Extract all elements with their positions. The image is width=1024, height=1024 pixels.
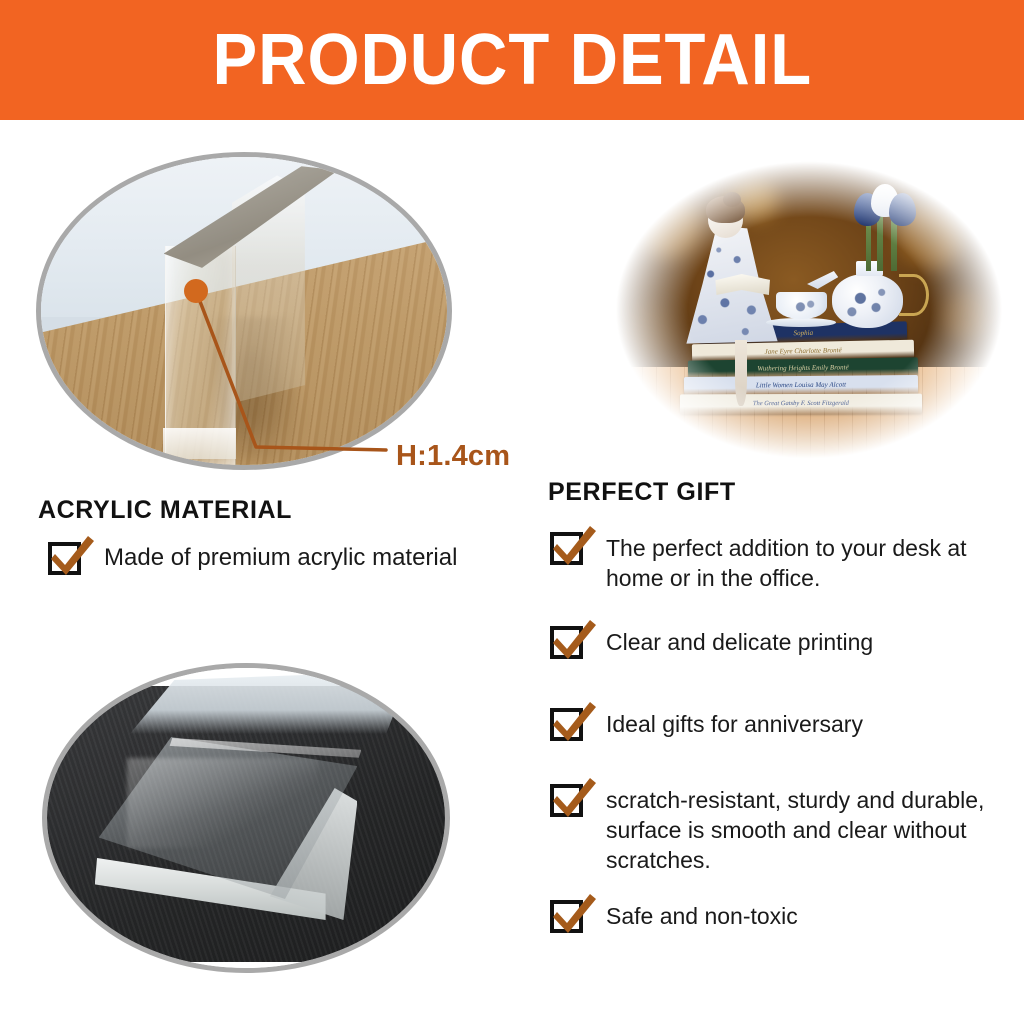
header-band: PRODUCT DETAIL [0, 0, 1024, 120]
slate-scene [47, 668, 445, 968]
checkmark-icon [550, 704, 590, 744]
slab-sheen [127, 758, 318, 848]
edge-slab-base-highlight [163, 428, 236, 459]
feature-label: The perfect addition to your desk at hom… [606, 528, 988, 593]
feature-item: Clear and delicate printing [550, 622, 988, 662]
checkmark-icon [550, 780, 590, 820]
slate-top-highlight [119, 674, 398, 734]
page-title: PRODUCT DETAIL [212, 24, 812, 96]
check-glyph [552, 698, 596, 744]
figurine-hair-bun [723, 192, 741, 207]
book-spine-label: Little Women Louisa May Alcott [684, 375, 918, 396]
teapot-handle [899, 274, 929, 316]
teapot-spout [807, 271, 838, 289]
check-glyph [552, 616, 596, 662]
check-glyph [552, 522, 596, 568]
tulip-stem [891, 217, 897, 271]
feature-item: Ideal gifts for anniversary [550, 704, 988, 744]
product-detail-page: PRODUCT DETAIL SophiaJane Eyre Charlotte… [0, 0, 1024, 1024]
feature-label: Clear and delicate printing [606, 622, 873, 657]
check-glyph [50, 532, 94, 578]
book-spine: The Great Gatsby F. Scott Fitzgerald [680, 394, 922, 415]
callout-label-height: H:1.4cm [396, 440, 510, 473]
checkmark-icon [48, 538, 88, 578]
checkmark-icon [550, 896, 590, 936]
teapot-vase [832, 274, 902, 328]
checkmark-icon [550, 528, 590, 568]
photo-figurine-book-stack: SophiaJane Eyre Charlotte BrontëWutherin… [614, 160, 1004, 460]
feature-item: Made of premium acrylic material [48, 538, 518, 578]
check-glyph [552, 774, 596, 820]
tulip-stem [866, 220, 872, 271]
photo-acrylic-block-edge [36, 152, 452, 470]
book-spine-label: The Great Gatsby F. Scott Fitzgerald [680, 394, 922, 415]
check-glyph [552, 890, 596, 936]
heading-perfect-gift: PERFECT GIFT [548, 478, 736, 507]
figurine-leg [735, 340, 747, 406]
feature-label: Ideal gifts for anniversary [606, 704, 863, 739]
feature-label: scratch-resistant, sturdy and durable, s… [606, 780, 1000, 875]
feature-item: scratch-resistant, sturdy and durable, s… [550, 780, 1000, 875]
checkmark-icon [550, 622, 590, 662]
tulip-blue [889, 193, 916, 226]
gift-scene: SophiaJane Eyre Charlotte BrontëWutherin… [614, 160, 1004, 460]
feature-item: The perfect addition to your desk at hom… [550, 528, 988, 593]
heading-acrylic-material: ACRYLIC MATERIAL [38, 496, 292, 525]
feature-item: Safe and non-toxic [550, 896, 988, 936]
feature-label: Made of premium acrylic material [104, 538, 457, 573]
book-spine: Little Women Louisa May Alcott [684, 375, 918, 396]
bokeh-light [622, 304, 677, 358]
bokeh-light [942, 292, 993, 340]
feature-label: Safe and non-toxic [606, 896, 798, 931]
bokeh-light [637, 196, 699, 256]
edge-scene [41, 157, 447, 465]
photo-acrylic-slab-on-slate [42, 663, 450, 973]
teacup [776, 292, 827, 319]
